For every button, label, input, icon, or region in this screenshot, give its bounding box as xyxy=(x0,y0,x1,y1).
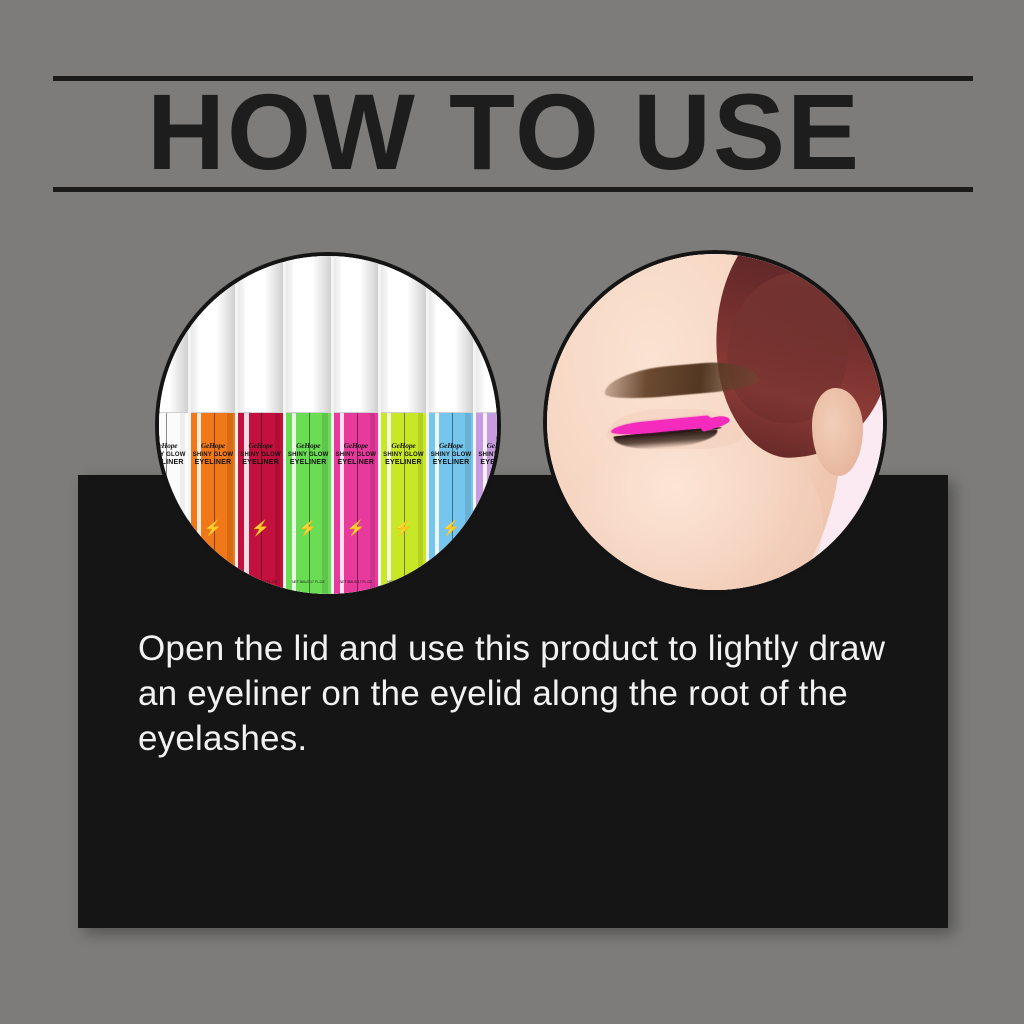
tube-label: GeHopeSHINY GLOWEYELINER xyxy=(155,441,188,466)
tube-cap xyxy=(476,252,501,413)
brand-name: GeHope xyxy=(381,441,426,450)
tube-cap xyxy=(155,252,188,413)
brand-name: GeHope xyxy=(155,441,188,450)
tube-cap xyxy=(334,252,379,413)
product-line-name: SHINY GLOW xyxy=(476,452,501,458)
lightning-bolt-icon: ⚡ xyxy=(346,521,365,536)
eyeliner-tube-lineup: GeHopeSHINY GLOWEYELINER⚡NET 5ML/0.17 FL… xyxy=(155,252,501,598)
brand-name: GeHope xyxy=(429,441,474,450)
net-volume-text: NET 5ML/0.17 FL.OZ xyxy=(191,580,236,584)
product-type-name: EYELINER xyxy=(334,459,379,466)
tube-label: GeHopeSHINY GLOWEYELINER xyxy=(238,441,283,466)
brand-name: GeHope xyxy=(238,441,283,450)
tube-body: GeHopeSHINY GLOWEYELINER⚡NET 5ML/0.17 FL… xyxy=(286,413,331,598)
product-line-name: SHINY GLOW xyxy=(155,452,188,458)
tube-label: GeHopeSHINY GLOWEYELINER xyxy=(429,441,474,466)
tube-label: GeHopeSHINY GLOWEYELINER xyxy=(476,441,501,466)
tube-cap xyxy=(286,252,331,413)
brand-name: GeHope xyxy=(191,441,236,450)
product-line-name: SHINY GLOW xyxy=(429,452,474,458)
product-type-name: EYELINER xyxy=(155,459,188,466)
tube-body: GeHopeSHINY GLOWEYELINER⚡NET 5ML/0.17 FL… xyxy=(381,413,426,598)
page-title: HOW TO USE xyxy=(147,79,977,185)
product-type-name: EYELINER xyxy=(381,459,426,466)
brand-name: GeHope xyxy=(476,441,501,450)
lightning-bolt-icon: ⚡ xyxy=(442,521,461,536)
net-volume-text: NET 5ML/0.17 FL.OZ xyxy=(381,580,426,584)
title-rule-bottom xyxy=(53,187,973,192)
product-type-name: EYELINER xyxy=(191,459,236,466)
ear xyxy=(812,388,862,475)
tube-body: GeHopeSHINY GLOWEYELINER⚡NET 5ML/0.17 FL… xyxy=(429,413,474,598)
eyeliner-tube[interactable]: GeHopeSHINY GLOWEYELINER⚡NET 5ML/0.17 FL… xyxy=(429,252,474,598)
tube-cap xyxy=(238,252,283,413)
tube-body: GeHopeSHINY GLOWEYELINER⚡NET 5ML/0.17 FL… xyxy=(191,413,236,598)
net-volume-text: NET 5ML/0.17 FL.OZ xyxy=(238,580,283,584)
tube-body: GeHopeSHINY GLOWEYELINER⚡NET 5ML/0.17 FL… xyxy=(155,413,188,598)
product-line-name: SHINY GLOW xyxy=(191,452,236,458)
model-eye-photo xyxy=(547,254,883,590)
net-volume-text: NET 5ML/0.17 FL.OZ xyxy=(286,580,331,584)
tube-cap xyxy=(191,252,236,413)
tube-label: GeHopeSHINY GLOWEYELINER xyxy=(191,441,236,466)
product-line-name: SHINY GLOW xyxy=(286,452,331,458)
lightning-bolt-icon: ⚡ xyxy=(299,521,318,536)
product-line-name: SHINY GLOW xyxy=(381,452,426,458)
lightning-bolt-icon: ⚡ xyxy=(156,521,175,536)
lightning-bolt-icon: ⚡ xyxy=(251,521,270,536)
lightning-bolt-icon: ⚡ xyxy=(394,521,413,536)
product-type-name: EYELINER xyxy=(286,459,331,466)
tube-label: GeHopeSHINY GLOWEYELINER xyxy=(381,441,426,466)
eyeliner-tube[interactable]: GeHopeSHINY GLOWEYELINER⚡NET 5ML/0.17 FL… xyxy=(381,252,426,598)
application-photo-circle xyxy=(543,250,887,594)
eyeliner-tube[interactable]: GeHopeSHINY GLOWEYELINER⚡NET 5ML/0.17 FL… xyxy=(238,252,283,598)
net-volume-text: NET 5ML/0.17 FL.OZ xyxy=(155,580,188,584)
product-type-name: EYELINER xyxy=(429,459,474,466)
eyeliner-tube[interactable]: GeHopeSHINY GLOWEYELINER⚡NET 5ML/0.17 FL… xyxy=(286,252,331,598)
product-type-name: EYELINER xyxy=(238,459,283,466)
eyeliner-tube[interactable]: GeHopeSHINY GLOWEYELINER⚡NET 5ML/0.17 FL… xyxy=(334,252,379,598)
eyeliner-tube[interactable]: GeHopeSHINY GLOWEYELINER⚡NET 5ML/0.17 FL… xyxy=(191,252,236,598)
product-line-name: SHINY GLOW xyxy=(334,452,379,458)
net-volume-text: NET 5ML/0.17 FL.OZ xyxy=(334,580,379,584)
poster-canvas: HOW TO USE Open the lid and use this pro… xyxy=(0,0,1024,1024)
tube-label: GeHopeSHINY GLOWEYELINER xyxy=(334,441,379,466)
tube-body: GeHopeSHINY GLOWEYELINER⚡NET 5ML/0.17 FL… xyxy=(238,413,283,598)
brand-name: GeHope xyxy=(286,441,331,450)
tube-cap xyxy=(429,252,474,413)
net-volume-text: NET 5ML/0.17 FL.OZ xyxy=(429,580,474,584)
instruction-text: Open the lid and use this product to lig… xyxy=(138,626,908,761)
product-showcase-circle: GeHopeSHINY GLOWEYELINER⚡NET 5ML/0.17 FL… xyxy=(155,252,501,598)
lightning-bolt-icon: ⚡ xyxy=(204,521,223,536)
brand-name: GeHope xyxy=(334,441,379,450)
eyeliner-tube[interactable]: GeHopeSHINY GLOWEYELINER⚡NET 5ML/0.17 FL… xyxy=(155,252,188,598)
tube-cap xyxy=(381,252,426,413)
product-type-name: EYELINER xyxy=(476,459,501,466)
tube-label: GeHopeSHINY GLOWEYELINER xyxy=(286,441,331,466)
product-line-name: SHINY GLOW xyxy=(238,452,283,458)
tube-body: GeHopeSHINY GLOWEYELINER⚡NET 5ML/0.17 FL… xyxy=(334,413,379,598)
